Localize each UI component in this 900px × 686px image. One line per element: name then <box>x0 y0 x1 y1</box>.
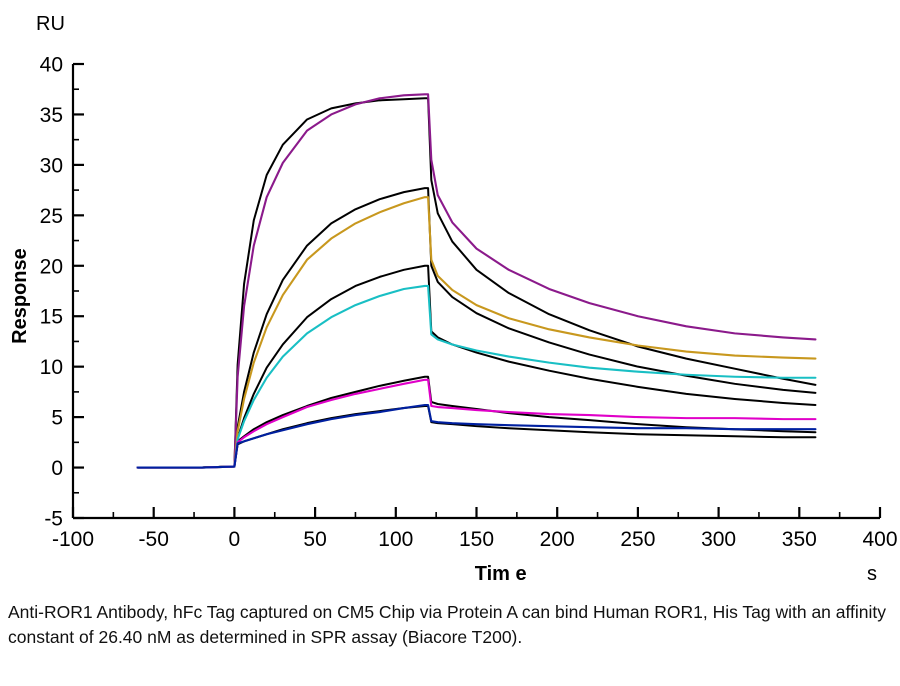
x-tick-label: 50 <box>303 528 326 551</box>
x-tick-label: -50 <box>139 528 169 551</box>
fit-curve-concentration-1-fit <box>138 98 816 467</box>
y-tick-label: 40 <box>40 54 63 77</box>
y-tick-label: 35 <box>40 104 63 127</box>
axes-group <box>73 64 880 518</box>
traces-group <box>138 94 816 467</box>
spr-sensorgram-figure: -50510152025303540-100-50050100150200250… <box>0 0 900 686</box>
figure-caption: Anti-ROR1 Antibody, hFc Tag captured on … <box>8 600 892 650</box>
y-tick-label: 5 <box>51 407 63 430</box>
x-tick-label: -100 <box>52 528 94 551</box>
y-tick-label: 20 <box>40 255 63 278</box>
x-tick-label: 200 <box>540 528 575 551</box>
y-tick-label: 30 <box>40 154 63 177</box>
x-axis-title: Tim e <box>475 563 527 585</box>
y-tick-label: 15 <box>40 306 63 329</box>
trace-concentration-1-purple <box>138 94 816 467</box>
y-tick-label: 0 <box>51 457 63 480</box>
y-tick-label: 10 <box>40 356 63 379</box>
axis-labels-group: -50510152025303540-100-50050100150200250… <box>9 13 898 585</box>
x-tick-label: 0 <box>229 528 241 551</box>
caption-text: Anti-ROR1 Antibody, hFc Tag captured on … <box>8 600 892 650</box>
y-axis-title: Response <box>9 248 31 344</box>
y-unit-label: RU <box>36 13 65 35</box>
chart-plot-area: -50510152025303540-100-50050100150200250… <box>0 0 900 596</box>
x-tick-label: 400 <box>862 528 897 551</box>
x-tick-label: 250 <box>620 528 655 551</box>
x-tick-label: 150 <box>459 528 494 551</box>
sensorgram-svg: -50510152025303540-100-50050100150200250… <box>0 0 900 596</box>
x-unit-label: s <box>867 563 877 585</box>
y-tick-label: 25 <box>40 205 63 228</box>
x-tick-label: 100 <box>378 528 413 551</box>
x-tick-label: 300 <box>701 528 736 551</box>
x-tick-label: 350 <box>782 528 817 551</box>
